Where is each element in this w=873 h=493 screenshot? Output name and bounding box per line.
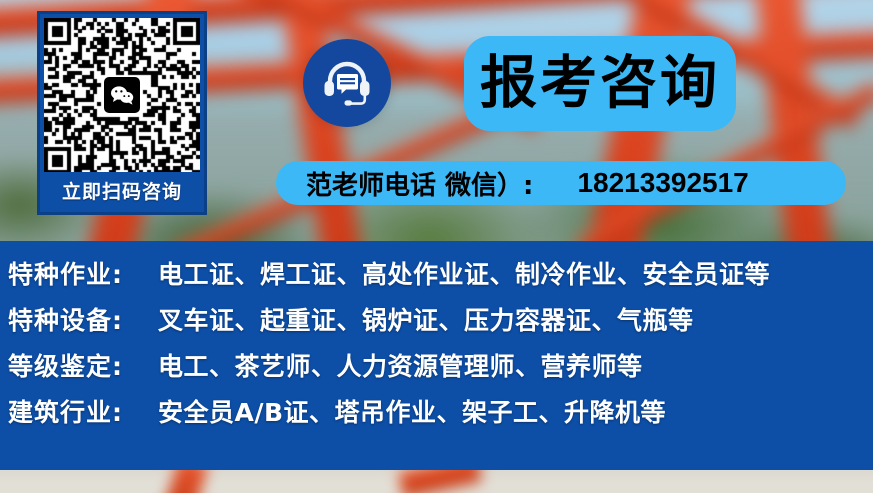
certification-items: 电工证、焊工证、高处作业证、制冷作业、安全员证等	[158, 255, 770, 291]
bottom-photo-blur-layer	[0, 470, 873, 493]
crane-beam	[161, 470, 208, 493]
consult-cta-button[interactable]: 报考咨询	[464, 36, 736, 131]
certifications-panel: 特种作业: 电工证、焊工证、高处作业证、制冷作业、安全员证等 特种设备: 叉车证…	[0, 241, 873, 470]
certification-items: 电工、茶艺师、人力资源管理师、营养师等	[158, 347, 643, 383]
contact-phone-number[interactable]: 18213392517	[577, 167, 748, 199]
bottom-photo-strip	[0, 470, 873, 493]
crane-beam	[398, 470, 482, 493]
qr-code-card[interactable]: 立即扫码咨询	[37, 11, 207, 215]
contact-bar[interactable]: 范老师电话 微信）: 18213392517	[276, 161, 846, 205]
headset-support-icon	[303, 39, 391, 127]
certification-row: 等级鉴定: 电工、茶艺师、人力资源管理师、营养师等	[8, 347, 873, 393]
contact-label: 范老师电话 微信）:	[306, 165, 533, 202]
qr-code-image[interactable]	[44, 18, 200, 172]
certification-category: 特种作业:	[8, 255, 158, 291]
certification-row: 建筑行业: 安全员A/B证、塔吊作业、架子工、升降机等	[8, 393, 873, 439]
certification-row: 特种作业: 电工证、焊工证、高处作业证、制冷作业、安全员证等	[8, 255, 873, 301]
certification-category: 特种设备:	[8, 301, 158, 337]
certification-items: 叉车证、起重证、锅炉证、压力容器证、气瓶等	[158, 301, 694, 337]
certification-category: 建筑行业:	[8, 393, 158, 429]
certification-items: 安全员A/B证、塔吊作业、架子工、升降机等	[158, 393, 666, 429]
certification-category: 等级鉴定:	[8, 347, 158, 383]
wechat-icon	[104, 77, 140, 113]
promo-poster: 立即扫码咨询 报考咨询 范老师电话 微信）: 18213392517	[0, 0, 873, 493]
consult-cta-label: 报考咨询	[480, 55, 720, 112]
qr-code-caption: 立即扫码咨询	[62, 172, 182, 212]
certification-row: 特种设备: 叉车证、起重证、锅炉证、压力容器证、气瓶等	[8, 301, 873, 347]
